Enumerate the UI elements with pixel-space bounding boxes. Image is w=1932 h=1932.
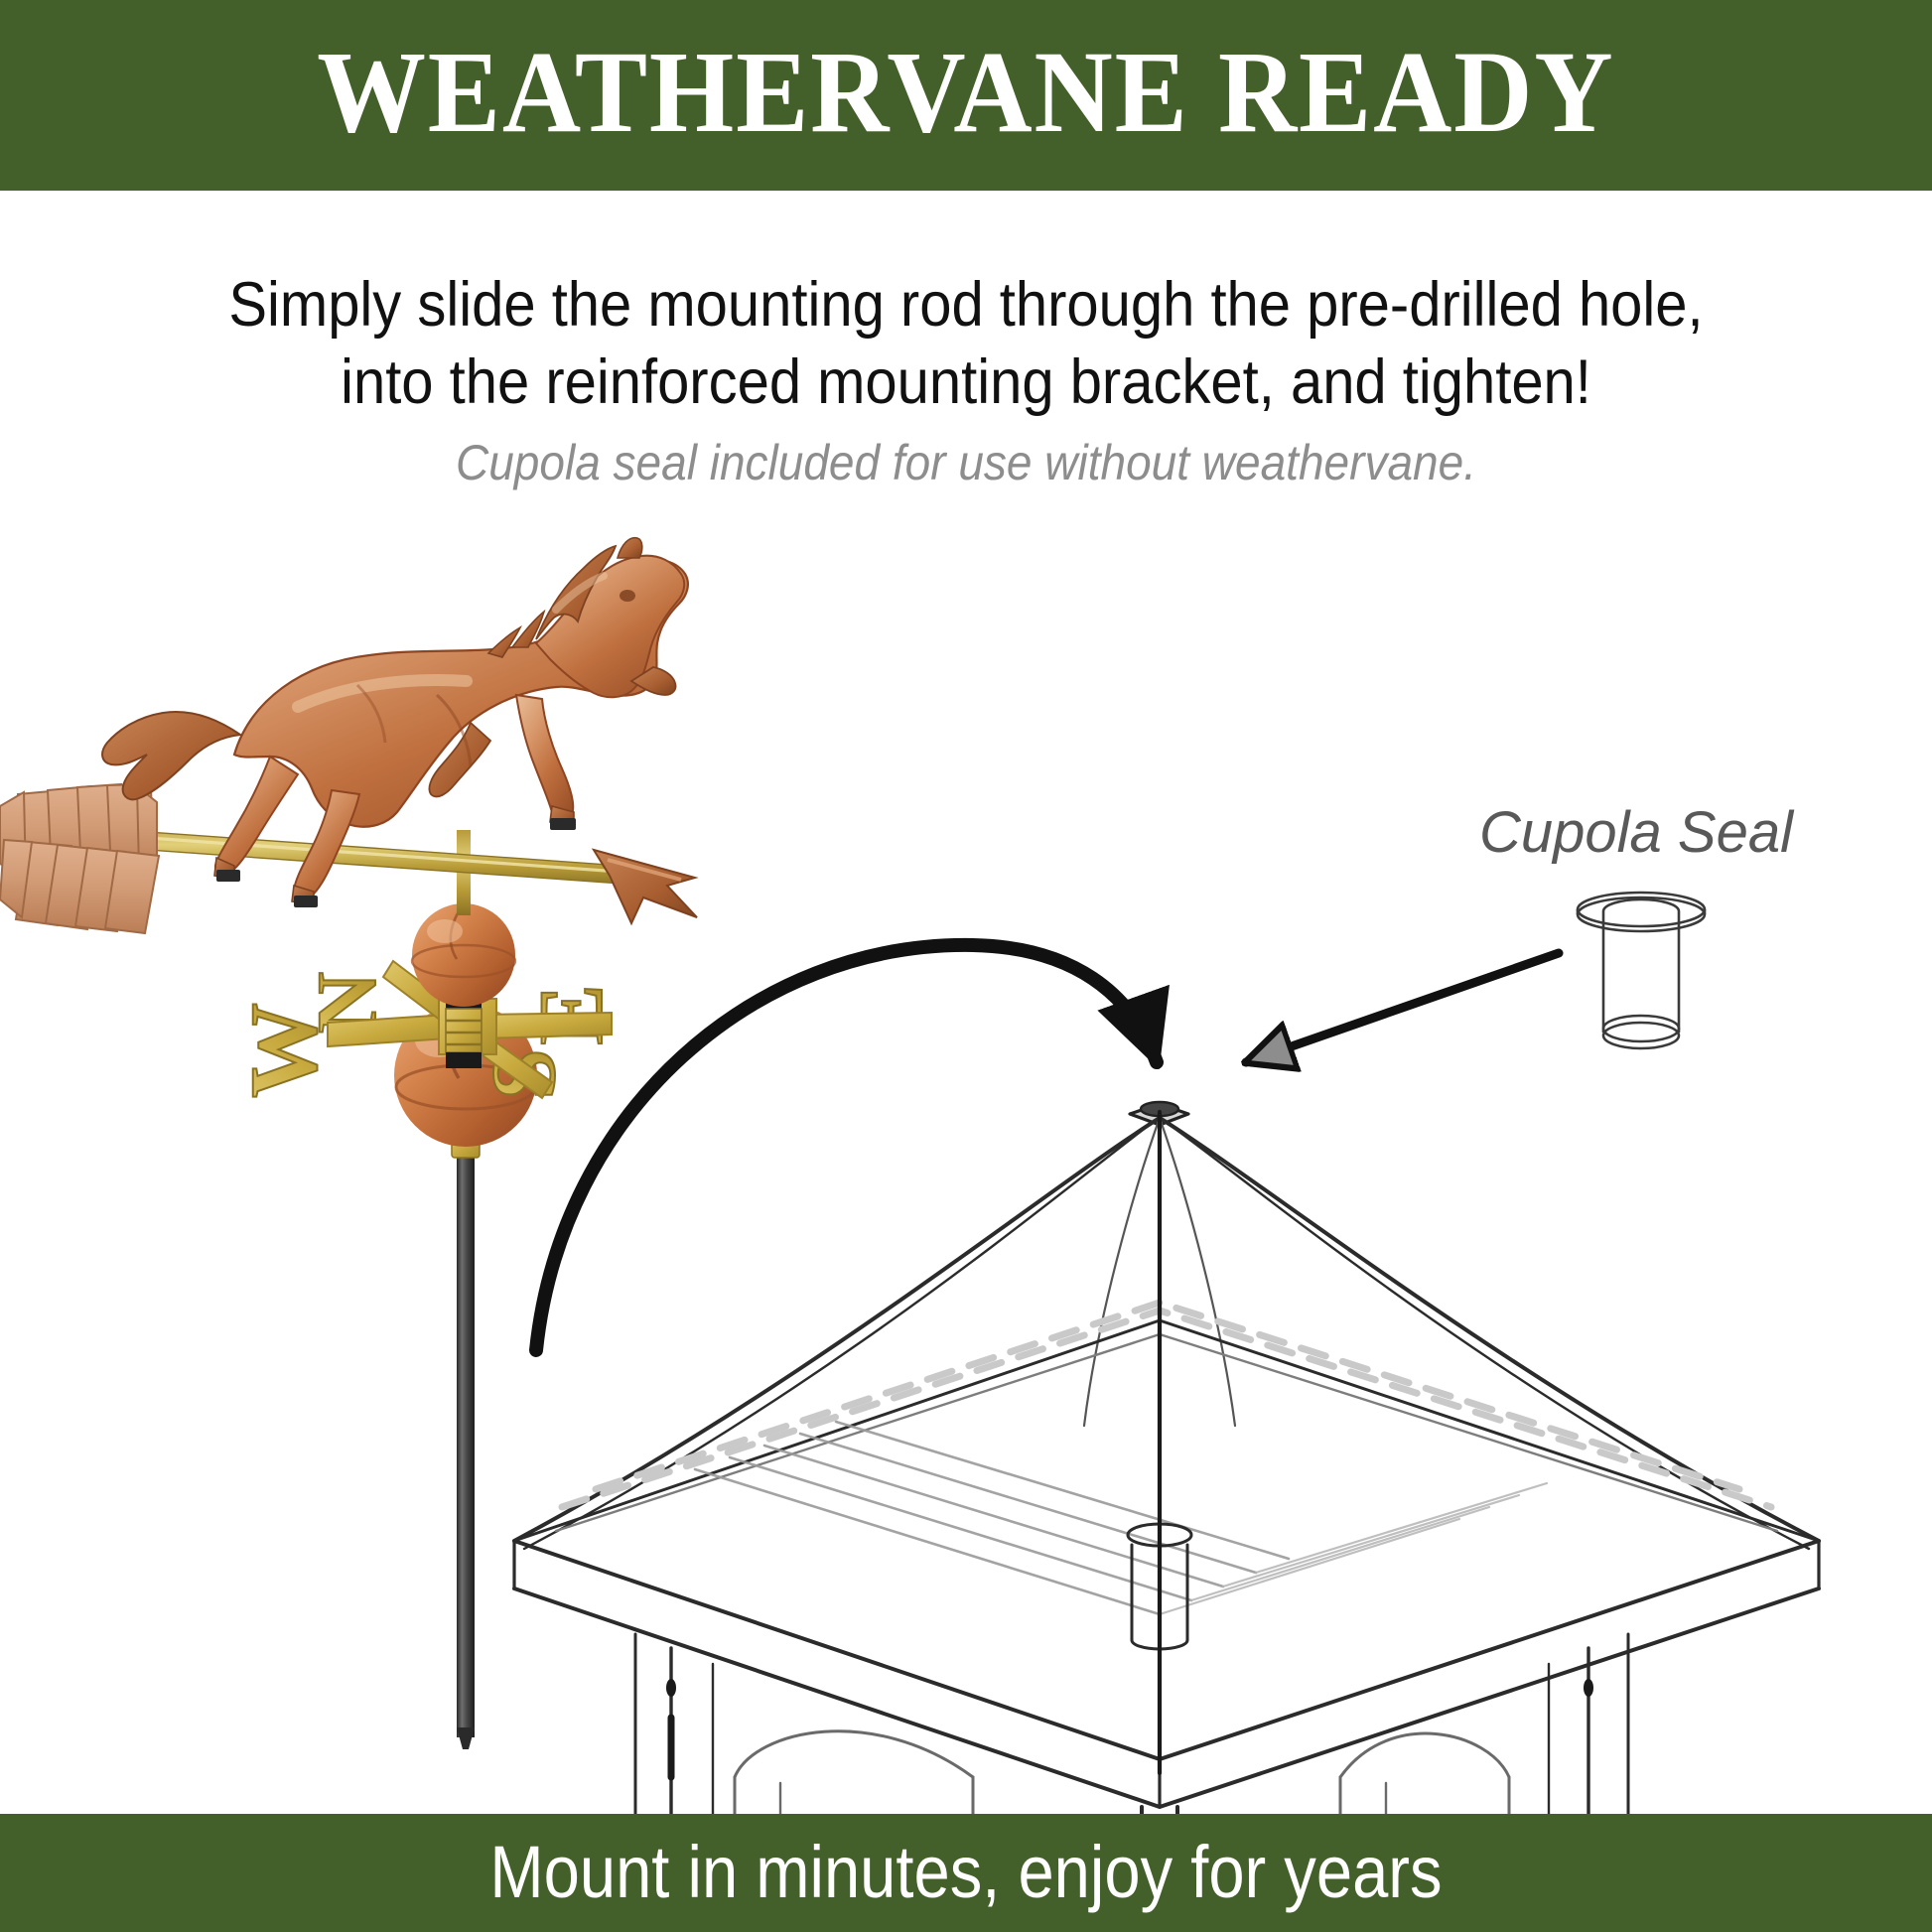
bottom-banner: Mount in minutes, enjoy for years [0,1814,1932,1932]
footer-tagline: Mount in minutes, enjoy for years [489,1836,1442,1909]
weathervane-figure: N W E S [0,0,1932,1932]
arrow-head [594,850,697,923]
poster-canvas: WEATHERVANE READY Simply slide the mount… [0,0,1932,1932]
compass-letter-west: W [230,1003,337,1098]
mounting-rod [457,1152,475,1737]
upper-copper-ball [412,903,515,1007]
arrow-fletching-lower [0,840,159,933]
